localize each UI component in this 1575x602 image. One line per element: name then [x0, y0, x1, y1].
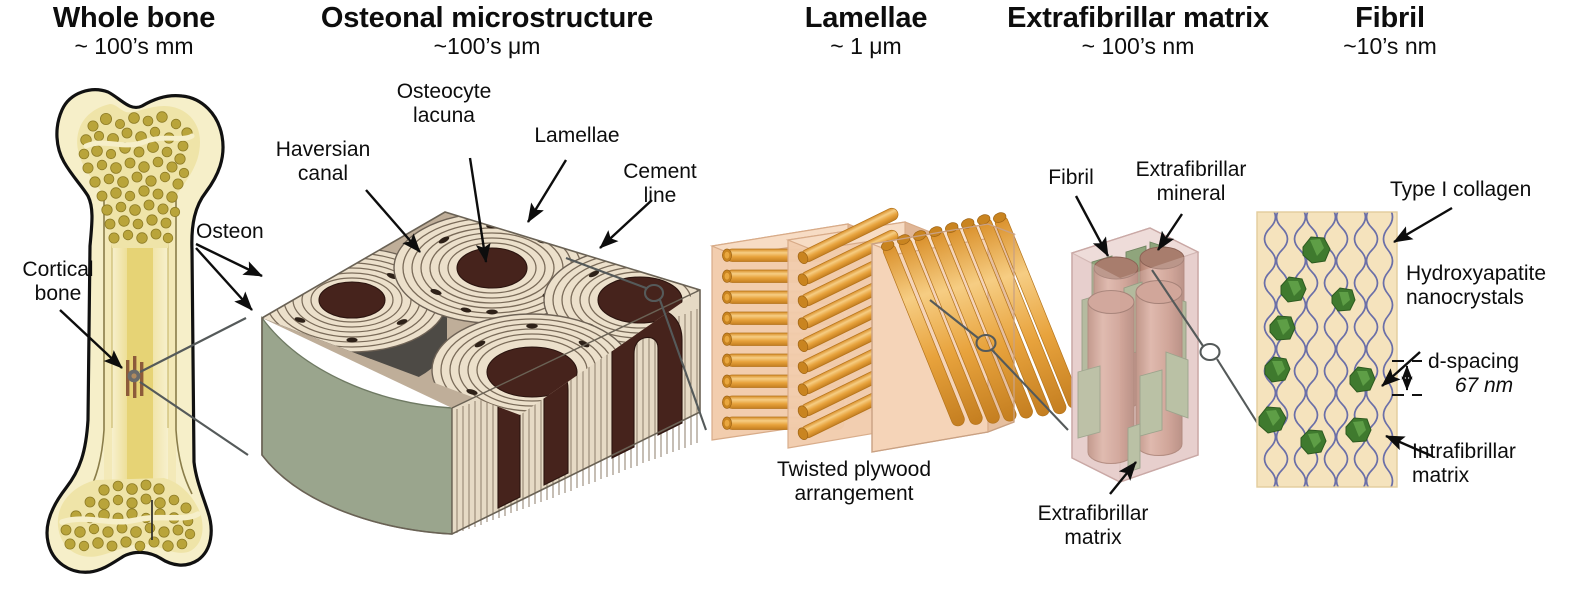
label-hydroxyapatite-nanocrystals: Hydroxyapatite nanocrystals [1406, 262, 1575, 310]
label-cement-line: Cement line [612, 160, 708, 208]
panel-header-lamellae: Lamellae ~ 1 μm [748, 2, 984, 60]
panel-scale: ~10’s nm [1290, 34, 1490, 60]
label-lamellae-callout: Lamellae [522, 124, 632, 148]
label-fibril-callout: Fibril [1028, 166, 1114, 190]
label-d-spacing: d-spacing 67 nm [1428, 350, 1568, 398]
whole-bone-illustration [47, 90, 223, 572]
label-osteon: Osteon [196, 220, 286, 244]
extrafibrillar-matrix-illustration [1072, 228, 1198, 482]
panel-header-osteonal: Osteonal microstructure ~100’s μm [272, 2, 702, 60]
panel-title: Osteonal microstructure [272, 2, 702, 34]
label-extrafibrillar-mineral: Extrafibrillar mineral [1118, 158, 1264, 206]
panel-scale: ~ 1 μm [748, 34, 984, 60]
lamellae-illustration [712, 206, 1082, 452]
leader-type-i-collagen [1394, 208, 1452, 242]
osteonal-block-illustration [257, 212, 736, 534]
panel-title: Whole bone [0, 2, 268, 34]
label-type-i-collagen: Type I collagen [1390, 178, 1570, 202]
panel-title: Extrafibrillar matrix [988, 2, 1288, 34]
lamella-slab-3 [872, 211, 1082, 452]
panel-header-extrafibrillar: Extrafibrillar matrix ~ 100’s nm [988, 2, 1288, 60]
panel-scale: ~ 100’s mm [0, 34, 268, 60]
label-twisted-plywood: Twisted plywood arrangement [740, 458, 968, 506]
label-intrafibrillar-matrix: Intrafibrillar matrix [1412, 440, 1572, 488]
panel-scale: ~100’s μm [272, 34, 702, 60]
sample-marker [126, 356, 143, 398]
leader-lamellae [528, 160, 566, 222]
panel-title: Lamellae [748, 2, 984, 34]
label-osteocyte-lacuna: Osteocyte lacuna [382, 80, 506, 128]
fibril-illustration [1257, 206, 1397, 492]
panel-title: Fibril [1290, 2, 1490, 34]
panel-header-fibril: Fibril ~10’s nm [1290, 2, 1490, 60]
panel-scale: ~ 100’s nm [988, 34, 1288, 60]
label-extrafibrillar-matrix: Extrafibrillar matrix [1018, 502, 1168, 550]
label-cortical-bone: Cortical bone [6, 258, 110, 306]
panel-header-whole-bone: Whole bone ~ 100’s mm [0, 2, 268, 60]
illustration-layer [0, 0, 1575, 602]
trabecular-bone-distal [58, 478, 203, 557]
figure-canvas: Whole bone ~ 100’s mm Osteonal microstru… [0, 0, 1575, 602]
label-haversian-canal: Haversian canal [262, 138, 384, 186]
